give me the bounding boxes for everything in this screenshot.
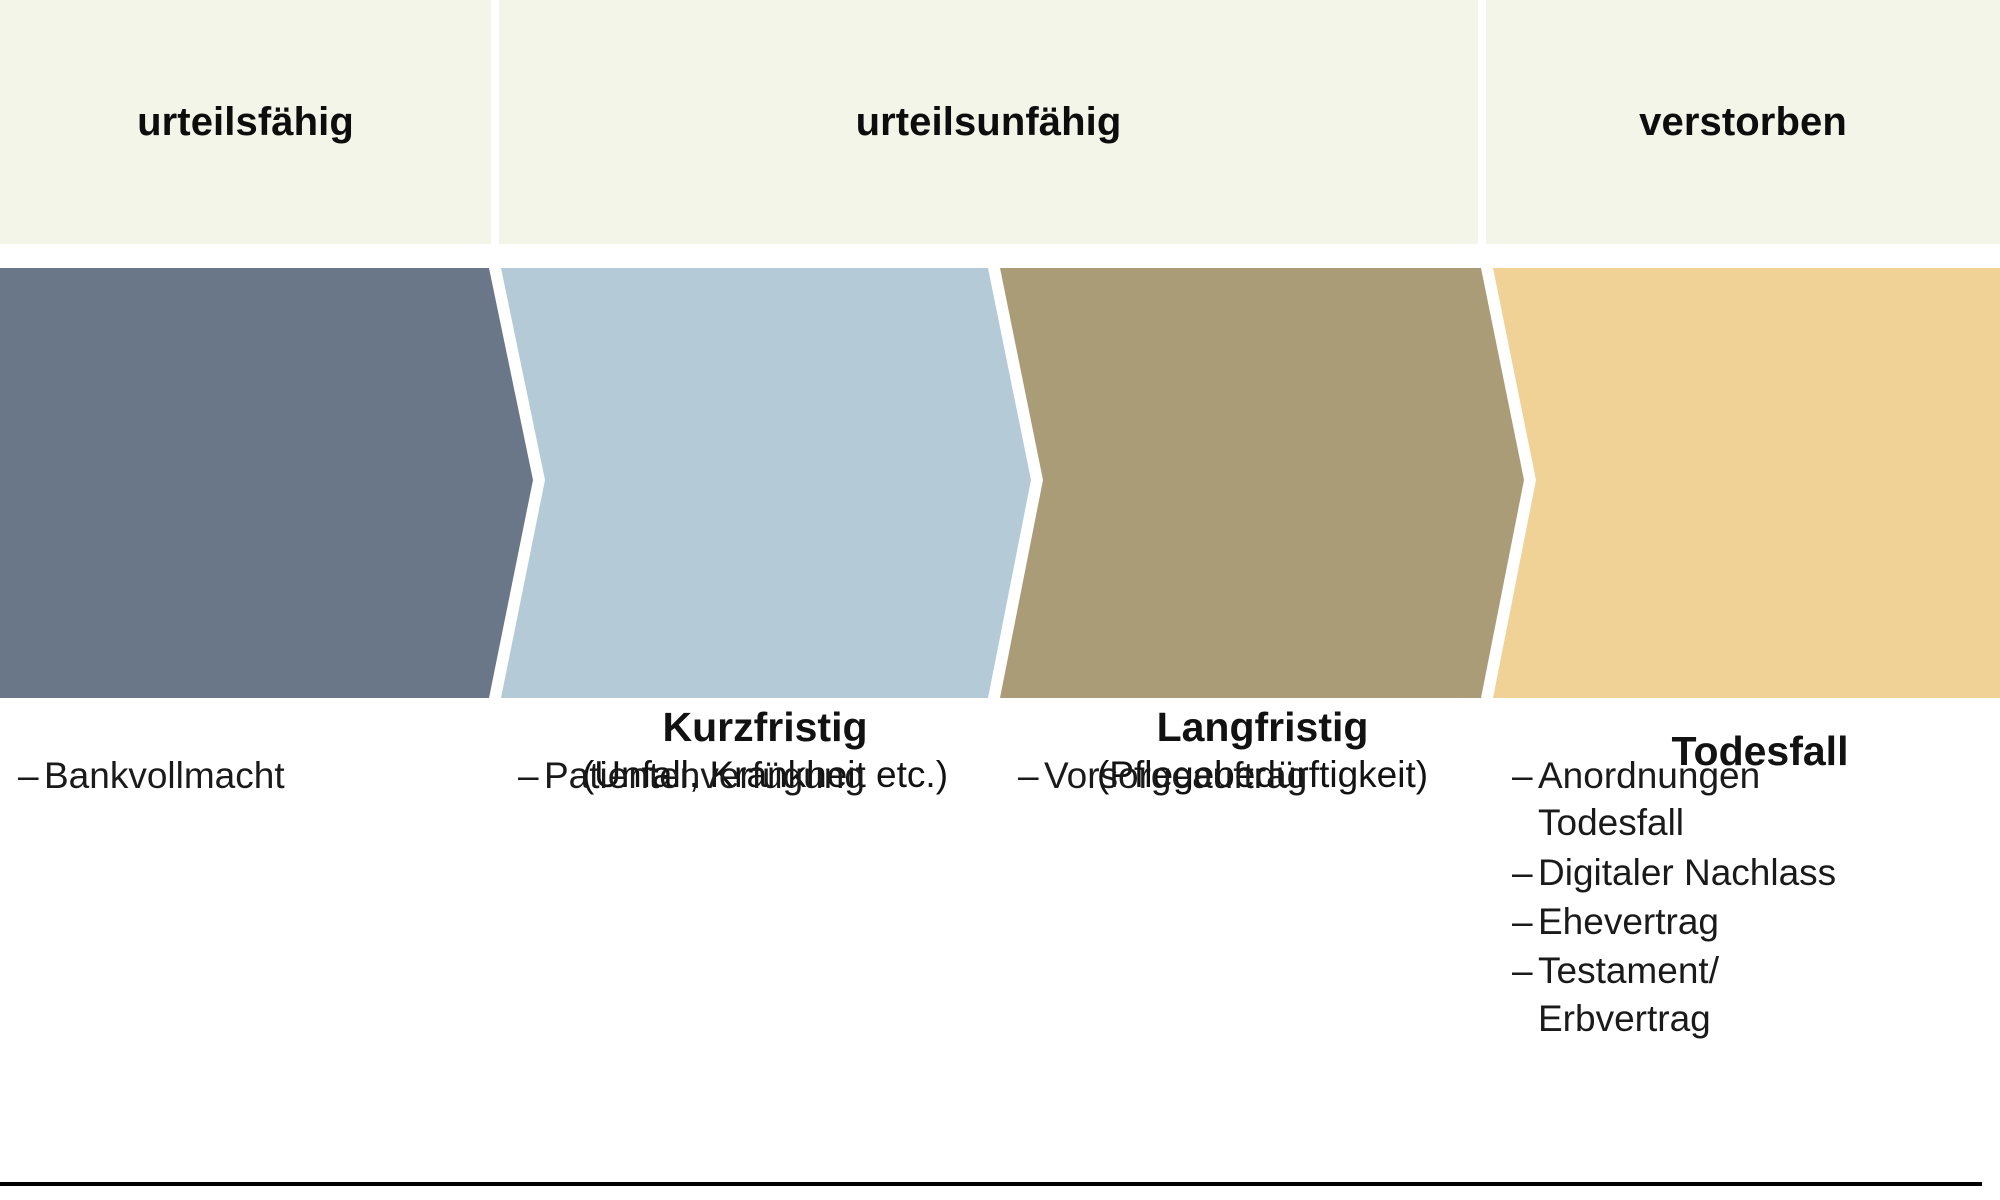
list-item: – Anordnungen Todesfall <box>1512 752 1836 847</box>
chevron-todesfall <box>1493 268 2000 698</box>
document-list-kurzfristig: – Patientenverfügung <box>518 752 865 801</box>
list-item: – Digitaler Nachlass <box>1512 849 1836 896</box>
bullet-dash-icon: – <box>518 752 544 799</box>
bullet-dash-icon: – <box>1512 898 1538 945</box>
chevron-shapes <box>0 268 2000 698</box>
stage-chevron-band: Gewohnter Lebensgang Kurzfristig (Unfall… <box>0 268 2000 698</box>
list-item-label: Testament/ Erbvertrag <box>1538 947 1719 1042</box>
header-label-verstorben: verstorben <box>1639 100 1847 145</box>
footer-divider <box>0 1182 1982 1186</box>
header-cell-verstorben: verstorben <box>1486 0 2000 244</box>
header-cell-urteilsfaehig: urteilsfähig <box>0 0 491 244</box>
list-item: – Ehevertrag <box>1512 898 1836 945</box>
bullet-dash-icon: – <box>1018 752 1044 799</box>
document-list-langfristig: – Vorsorgeauftrag <box>1018 752 1307 801</box>
capacity-header-band: urteilsfähig urteilsunfähig verstorben <box>0 0 2000 244</box>
bullet-dash-icon: – <box>18 752 44 799</box>
list-item: – Testament/ Erbvertrag <box>1512 947 1836 1042</box>
chevron-gewohnter-lebensgang <box>0 268 533 698</box>
list-item: – Bankvollmacht <box>18 752 285 799</box>
list-item: – Patientenverfügung <box>518 752 865 799</box>
bullet-dash-icon: – <box>1512 849 1538 896</box>
chevron-title-langfristig: Langfristig <box>1157 704 1369 751</box>
header-label-urteilsfaehig: urteilsfähig <box>137 100 354 145</box>
list-item-label: Digitaler Nachlass <box>1538 849 1836 896</box>
list-item: – Vorsorgeauftrag <box>1018 752 1307 799</box>
document-list-urteilsfaehig: – Bankvollmacht <box>18 752 285 801</box>
bullet-dash-icon: – <box>1512 752 1538 847</box>
chevron-title-kurzfristig: Kurzfristig <box>663 704 868 751</box>
chevron-title-line1: Gewohnter <box>143 704 357 750</box>
infographic-canvas: urteilsfähig urteilsunfähig verstorben G… <box>0 0 2000 1200</box>
list-item-label: Vorsorgeauftrag <box>1044 752 1307 799</box>
list-item-label: Patientenverfügung <box>544 752 865 799</box>
chevron-langfristig <box>1000 268 1524 698</box>
list-item-label: Anordnungen Todesfall <box>1538 752 1760 847</box>
bullet-dash-icon: – <box>1512 947 1538 1042</box>
list-item-label: Bankvollmacht <box>44 752 285 799</box>
document-list-todesfall: – Anordnungen Todesfall – Digitaler Nach… <box>1512 752 1836 1044</box>
chevron-kurzfristig <box>501 268 1031 698</box>
header-cell-urteilsunfaehig: urteilsunfähig <box>499 0 1478 244</box>
list-item-label: Ehevertrag <box>1538 898 1719 945</box>
header-label-urteilsunfaehig: urteilsunfähig <box>856 100 1122 145</box>
